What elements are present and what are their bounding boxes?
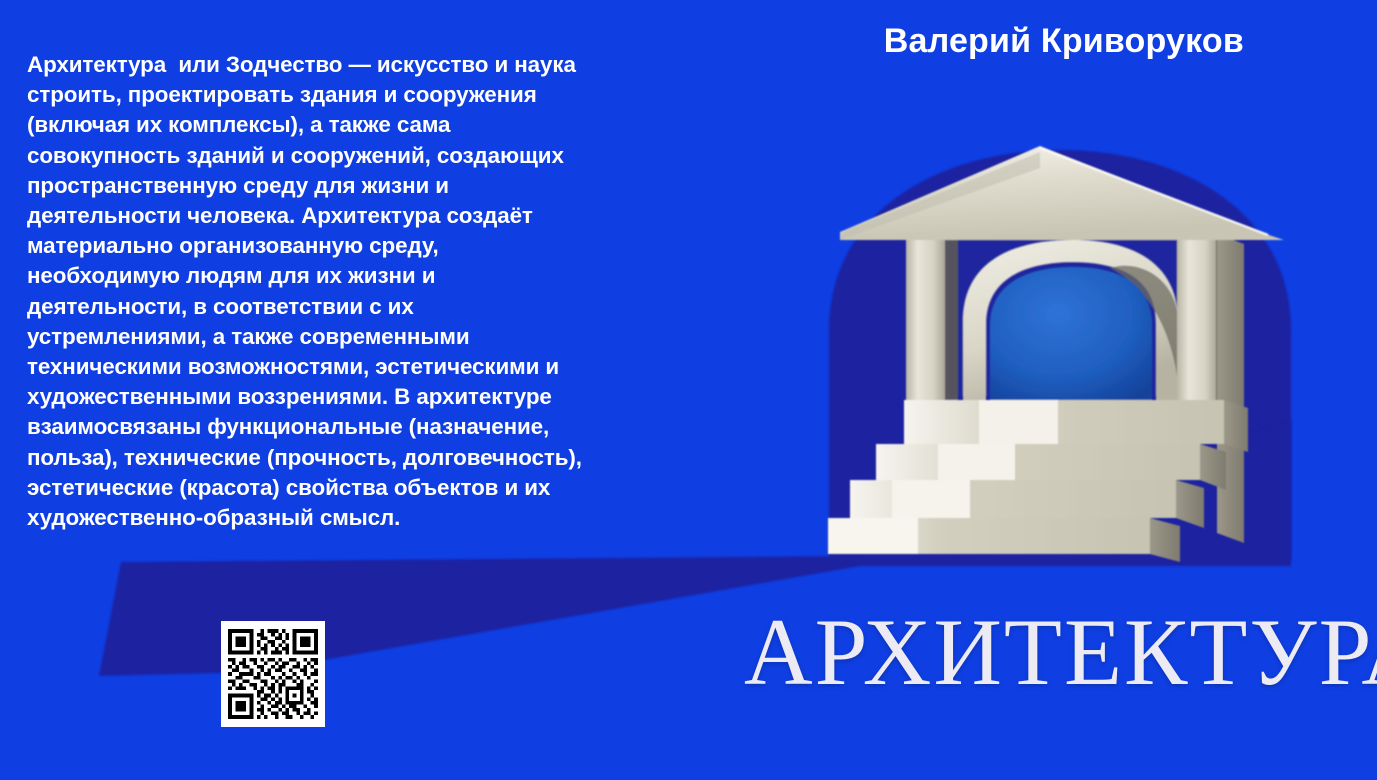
step-2 bbox=[876, 444, 1200, 480]
step-2-riser bbox=[938, 444, 1015, 480]
right-column bbox=[1177, 226, 1217, 404]
step-4-riser bbox=[828, 518, 918, 554]
left-column-shadow bbox=[945, 232, 958, 404]
description-text: Архитектура или Зодчество — искусство и … bbox=[27, 50, 592, 533]
archway-opening bbox=[990, 267, 1152, 400]
step-3-riser bbox=[892, 480, 970, 518]
author-name: Валерий Криворуков bbox=[884, 22, 1244, 61]
step-2-side bbox=[1200, 444, 1226, 490]
qr-code-matrix bbox=[221, 621, 325, 727]
book-cover: Архитектура или Зодчество — искусство и … bbox=[0, 0, 1377, 780]
temple-illustration bbox=[820, 128, 1320, 568]
pediment-roof-face bbox=[840, 148, 1268, 240]
step-4-side bbox=[1150, 518, 1180, 562]
left-column bbox=[906, 226, 945, 404]
step-1-riser bbox=[979, 400, 1058, 444]
step-1 bbox=[904, 400, 1224, 444]
qr-code[interactable] bbox=[221, 621, 325, 727]
temple-svg bbox=[820, 128, 1320, 568]
step-1-side bbox=[1224, 400, 1248, 452]
step-3-side bbox=[1176, 480, 1204, 528]
cover-title: АРХИТЕКТУРА bbox=[744, 605, 1377, 700]
temple-right-wall bbox=[1217, 234, 1244, 543]
